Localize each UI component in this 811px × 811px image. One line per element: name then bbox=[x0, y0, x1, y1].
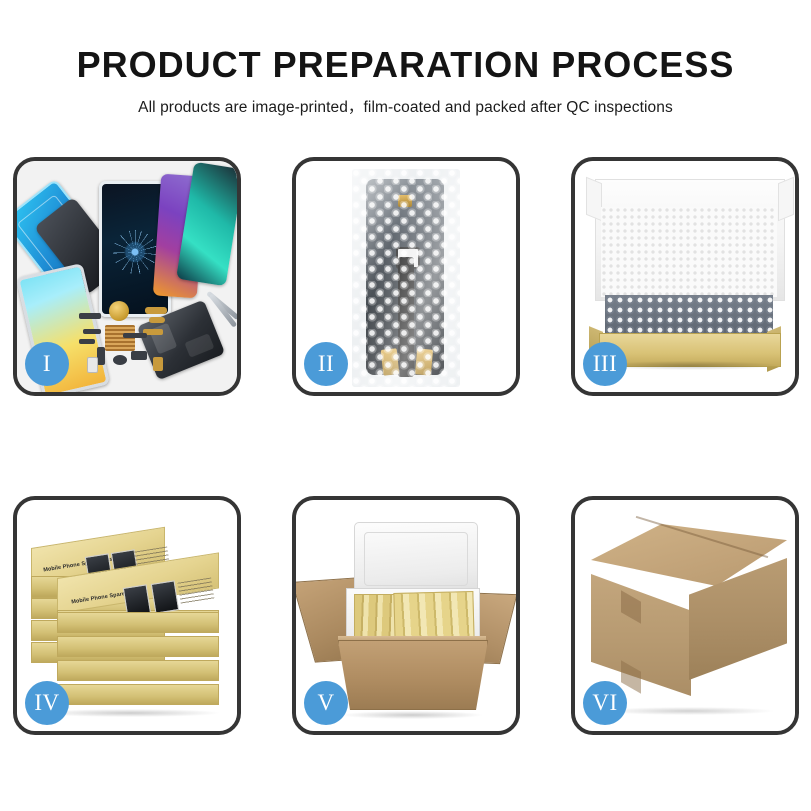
carton-front-wall bbox=[338, 640, 488, 710]
page-subtitle: All products are image-printed，film-coat… bbox=[0, 84, 811, 117]
box-side bbox=[57, 636, 219, 657]
gold-tab-right bbox=[415, 348, 433, 375]
flex-cable bbox=[398, 257, 414, 377]
step-badge-2: II bbox=[304, 342, 348, 386]
retail-box-front-5 bbox=[57, 684, 217, 708]
retail-box-front-4 bbox=[57, 660, 217, 684]
process-step-5: V bbox=[292, 496, 520, 735]
drop-shadow bbox=[342, 711, 482, 719]
bubble-wrap-pouch bbox=[352, 169, 460, 387]
foam-liner bbox=[601, 207, 777, 297]
part-flex-strip-b bbox=[79, 339, 95, 344]
part-camera-module bbox=[131, 351, 147, 360]
part-flex-strip-a bbox=[83, 329, 101, 334]
part-sim-tray bbox=[87, 357, 98, 373]
process-step-1: I bbox=[13, 157, 241, 396]
part-gold-flex-b bbox=[149, 317, 165, 323]
part-copper-mesh bbox=[105, 325, 135, 351]
step-badge-1: I bbox=[25, 342, 69, 386]
part-gold-flex-a bbox=[145, 307, 167, 314]
box-side bbox=[57, 684, 219, 705]
box-artwork-thumb-b bbox=[151, 580, 179, 613]
box-side bbox=[57, 660, 219, 681]
process-step-4: Mobile Phone Spare Parts Mobile P bbox=[13, 496, 241, 735]
process-step-6: VI bbox=[571, 496, 799, 735]
page-title: PRODUCT PREPARATION PROCESS bbox=[0, 0, 811, 84]
drop-shadow bbox=[601, 361, 777, 370]
foam-box-lid bbox=[354, 522, 478, 596]
retail-box-front-2 bbox=[57, 612, 217, 636]
step-badge-6: VI bbox=[583, 681, 627, 725]
page-header: PRODUCT PREPARATION PROCESS All products… bbox=[0, 0, 811, 117]
box-spec-lines bbox=[177, 577, 214, 604]
part-earpiece-mesh bbox=[79, 313, 101, 319]
part-gold-chip bbox=[153, 357, 163, 371]
drop-shadow bbox=[605, 707, 773, 715]
step-badge-4: IV bbox=[25, 681, 69, 725]
part-flex-strip-c bbox=[123, 333, 147, 338]
gold-tab-top bbox=[398, 195, 412, 207]
step-badge-5: V bbox=[304, 681, 348, 725]
part-vibrator bbox=[97, 347, 105, 365]
gold-tab-left bbox=[381, 348, 400, 376]
retail-box-front-3 bbox=[57, 636, 217, 660]
process-step-2: II bbox=[292, 157, 520, 396]
box-side bbox=[57, 612, 219, 633]
process-step-3: III bbox=[571, 157, 799, 396]
bubble-wrap-fill bbox=[605, 295, 773, 337]
process-step-grid: I II bbox=[13, 157, 799, 735]
part-gold-coin bbox=[109, 301, 129, 321]
crack-burst bbox=[113, 230, 157, 274]
part-speaker bbox=[113, 355, 127, 365]
step-badge-3: III bbox=[583, 342, 627, 386]
